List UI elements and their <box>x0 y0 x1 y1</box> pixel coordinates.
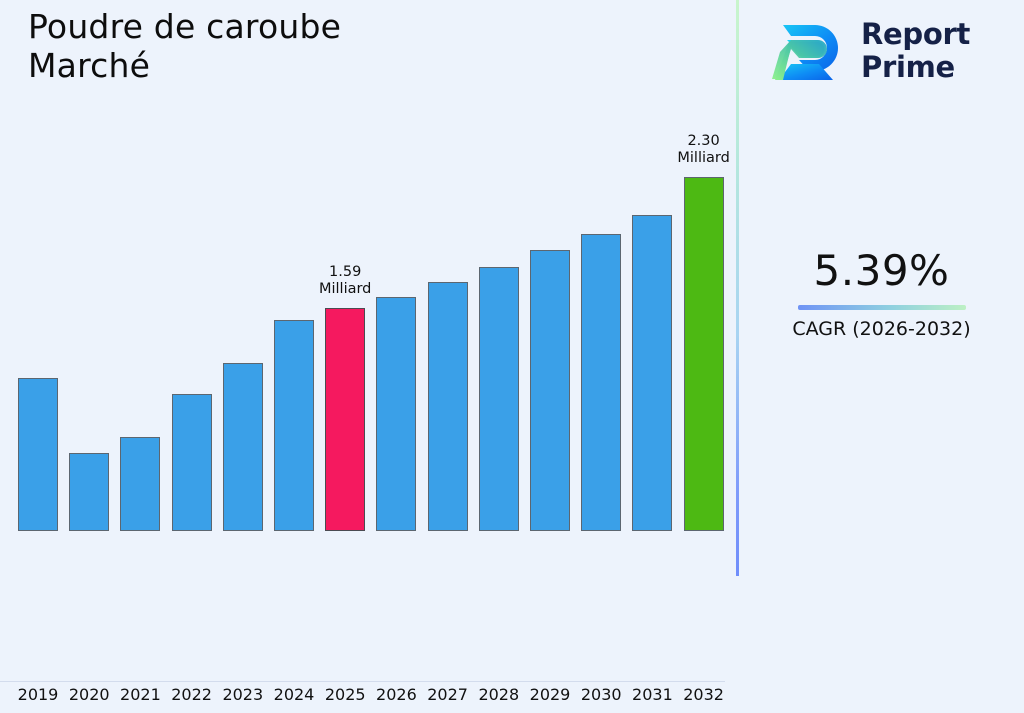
x-tick-2027: 2027 <box>421 685 475 704</box>
bar-2032[interactable] <box>684 177 724 531</box>
brand-name: Report Prime <box>861 18 1011 84</box>
x-tick-2032: 2032 <box>677 685 731 704</box>
x-tick-2023: 2023 <box>216 685 270 704</box>
x-tick-2029: 2029 <box>523 685 577 704</box>
bar-slot <box>376 150 416 531</box>
chart-infographic: Poudre de caroube Marché 1.59 Milliard2.… <box>0 0 1024 576</box>
cagr-divider-rule <box>798 305 966 310</box>
bar-slot <box>581 150 621 531</box>
bar-2021[interactable] <box>120 437 160 531</box>
bar-2025[interactable] <box>325 308 365 531</box>
cagr-caption: CAGR (2026-2032) <box>739 318 1024 340</box>
bar-slot <box>632 150 672 531</box>
bar-slot <box>530 150 570 531</box>
bar-slot <box>479 150 519 531</box>
bar-2024[interactable] <box>274 320 314 531</box>
x-tick-2020: 2020 <box>62 685 116 704</box>
bar-2030[interactable] <box>581 234 621 531</box>
bar-chart-plot: 1.59 Milliard2.30 Milliard 2019202020212… <box>0 150 737 531</box>
x-tick-2019: 2019 <box>11 685 65 704</box>
bar-slot <box>428 150 468 531</box>
cagr-value: 5.39% <box>739 250 1024 292</box>
bar-2028[interactable] <box>479 267 519 531</box>
report-prime-logo-icon <box>769 16 851 88</box>
brand-logo: Report Prime <box>769 14 1009 90</box>
bar-slot <box>325 150 365 531</box>
x-tick-2030: 2030 <box>574 685 628 704</box>
bar-2019[interactable] <box>18 378 58 531</box>
bar-2020[interactable] <box>69 453 109 531</box>
cagr-block: 5.39% CAGR (2026-2032) <box>739 250 1024 340</box>
x-tick-2026: 2026 <box>369 685 423 704</box>
chart-panel: Poudre de caroube Marché 1.59 Milliard2.… <box>0 0 737 576</box>
x-tick-2028: 2028 <box>472 685 526 704</box>
x-axis-tick-labels: 2019202020212022202320242025202620272028… <box>0 685 737 713</box>
bar-2027[interactable] <box>428 282 468 531</box>
x-axis-line <box>0 681 725 682</box>
x-tick-2024: 2024 <box>267 685 321 704</box>
bar-slot <box>172 150 212 531</box>
bar-2031[interactable] <box>632 215 672 531</box>
x-tick-2021: 2021 <box>113 685 167 704</box>
bar-slot <box>684 150 724 531</box>
bar-slot <box>223 150 263 531</box>
bar-2022[interactable] <box>172 394 212 531</box>
x-tick-2031: 2031 <box>625 685 679 704</box>
bar-slot <box>274 150 314 531</box>
bar-slot <box>120 150 160 531</box>
x-tick-2025: 2025 <box>318 685 372 704</box>
bar-2023[interactable] <box>223 363 263 531</box>
bar-2026[interactable] <box>376 297 416 531</box>
bar-slot <box>69 150 109 531</box>
bar-series: 1.59 Milliard2.30 Milliard <box>0 150 737 531</box>
x-tick-2022: 2022 <box>165 685 219 704</box>
bar-2029[interactable] <box>530 250 570 531</box>
summary-panel: Report Prime 5.39% CAGR (2026-2032) <box>739 0 1024 576</box>
bar-slot <box>18 150 58 531</box>
page-title: Poudre de caroube Marché <box>28 8 688 86</box>
bar-value-label-2032: 2.30 Milliard <box>660 133 748 167</box>
